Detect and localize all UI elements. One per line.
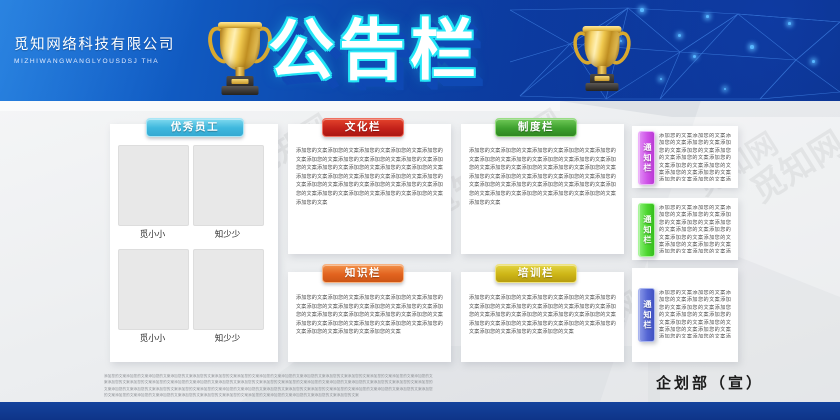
- poster-canvas: 觅知网络科技有限公司 MIZHIWANGWANGLYOUSDSJ THA 公告栏: [0, 0, 840, 420]
- department-signature: 企划部（宣）: [656, 372, 764, 393]
- employee-photo[interactable]: [193, 145, 264, 226]
- system-body: 添加您的文案添加您的文案添加您的文案添加您的文案添加您的文案添加您的文案添加您的…: [469, 147, 616, 247]
- employee-photo[interactable]: [118, 249, 189, 330]
- company-name-cn: 觅知网络科技有限公司: [14, 33, 175, 54]
- notice-body: 添加您的文案添加您的文案添加您的文案添加您的文案添加您的文案添加您的文案添加您的…: [659, 290, 731, 338]
- tab-knowledge[interactable]: 知识栏: [322, 264, 404, 283]
- notice-tab-purple[interactable]: 通知栏: [638, 131, 655, 185]
- footer-note: 添加您的文案添加您的文案添加您的文案添加您的文案添加您的文案添加您的文案添加您的…: [104, 373, 434, 395]
- header-banner: 觅知网络科技有限公司 MIZHIWANGWANGLYOUSDSJ THA 公告栏: [0, 0, 840, 101]
- page-title: 公告栏: [268, 9, 568, 93]
- tab-culture[interactable]: 文化栏: [322, 118, 404, 137]
- notice-body: 添加您的文案添加您的文案添加您的文案添加您的文案添加您的文案添加您的文案添加您的…: [659, 133, 731, 181]
- trophy-icon-left: [203, 8, 277, 94]
- employee-name: 知少少: [193, 228, 262, 240]
- company-name-en: MIZHIWANGWANGLYOUSDSJ THA: [14, 58, 175, 65]
- employee-name: 觅小小: [118, 332, 187, 344]
- notice-body: 添加您的文案添加您的文案添加您的文案添加您的文案添加您的文案添加您的文案添加您的…: [659, 205, 731, 253]
- trophy-icon-right: [569, 14, 635, 92]
- training-body: 添加您的文案添加您的文案添加您的文案添加您的文案添加您的文案添加您的文案添加您的…: [469, 294, 616, 356]
- footer-bar: [0, 402, 840, 420]
- employee-name: 觅小小: [118, 228, 187, 240]
- employee-name: 知少少: [193, 332, 262, 344]
- culture-body: 添加您的文案添加您的文案添加您的文案添加您的文案添加您的文案添加您的文案添加您的…: [296, 147, 443, 247]
- tab-system[interactable]: 制度栏: [495, 118, 577, 137]
- company-brand: 觅知网络科技有限公司 MIZHIWANGWANGLYOUSDSJ THA: [14, 33, 175, 65]
- knowledge-body: 添加您的文案添加您的文案添加您的文案添加您的文案添加您的文案添加您的文案添加您的…: [296, 294, 443, 356]
- notice-tab-blue[interactable]: 通知栏: [638, 288, 655, 342]
- tab-training[interactable]: 培训栏: [495, 264, 577, 283]
- employee-photo[interactable]: [193, 249, 264, 330]
- employee-photo[interactable]: [118, 145, 189, 226]
- tab-employees[interactable]: 优秀员工: [146, 118, 244, 137]
- notice-tab-green[interactable]: 通知栏: [638, 203, 655, 257]
